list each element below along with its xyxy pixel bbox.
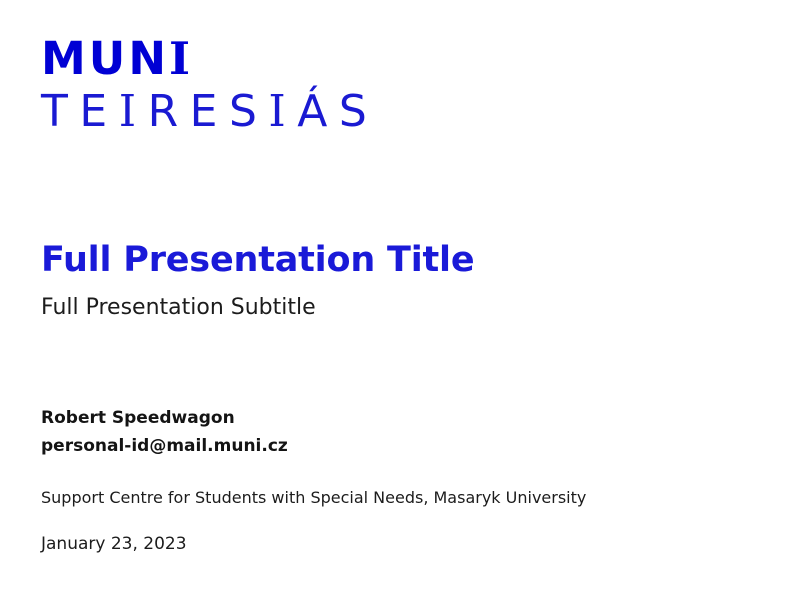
teiresias-serif-i-2: I	[268, 86, 297, 137]
title-area: Full Presentation Title Full Presentatio…	[41, 240, 741, 322]
author-email: personal-id@mail.muni.cz	[41, 433, 761, 461]
presentation-subtitle: Full Presentation Subtitle	[41, 295, 741, 321]
author-meta-area: Robert Speedwagon personal-id@mail.muni.…	[41, 405, 761, 555]
muni-wordmark-prefix: MUN	[41, 32, 169, 85]
muni-wordmark: MUNI	[41, 36, 378, 82]
teiresias-part-2: RES	[148, 86, 269, 137]
title-slide: MUNI TEIRESIÁS Full Presentation Title F…	[0, 0, 794, 596]
muni-teiresias-logo: MUNI TEIRESIÁS	[41, 36, 378, 136]
author-name: Robert Speedwagon	[41, 405, 761, 433]
teiresias-wordmark: TEIRESIÁS	[41, 90, 378, 136]
teiresias-part-1: TE	[41, 86, 119, 137]
presentation-title: Full Presentation Title	[41, 240, 741, 281]
teiresias-part-3: ÁS	[297, 86, 378, 137]
teiresias-serif-i-1: I	[119, 86, 148, 137]
author-affiliation: Support Centre for Students with Special…	[41, 488, 761, 509]
muni-wordmark-serif-i: I	[169, 32, 190, 85]
presentation-date: January 23, 2023	[41, 533, 761, 555]
